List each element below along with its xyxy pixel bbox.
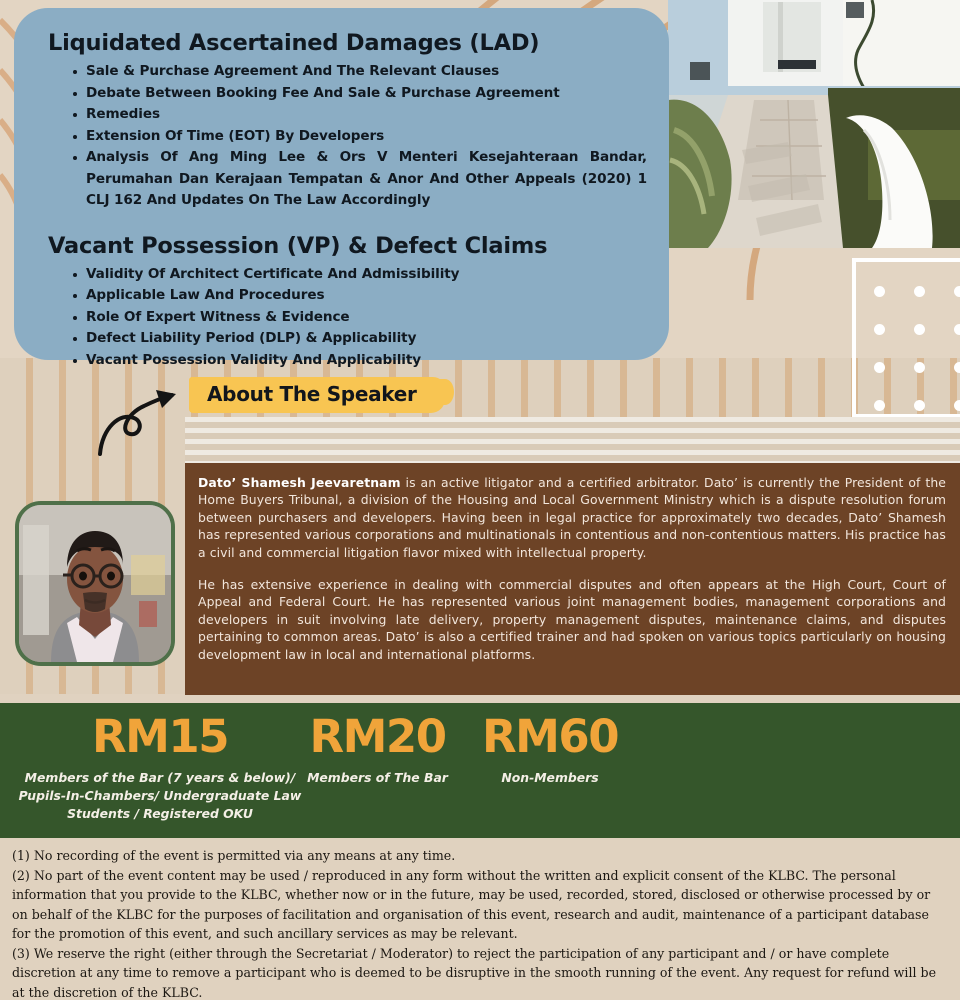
price-tier-2: RM20 Members of The Bar (270, 711, 485, 787)
price-amount: RM60 (460, 711, 640, 763)
topic-heading-lad-abbr: (LAD) (469, 30, 539, 56)
topic-heading-lad: Liquidated Ascertained Damages (LAD) (48, 30, 641, 56)
about-speaker-label: About The Speaker (189, 377, 445, 413)
speaker-bio-paragraph-1: Dato’ Shamesh Jeevaretnam is an active l… (198, 474, 946, 561)
speaker-portrait-illustration (19, 505, 171, 662)
dot-grid (856, 262, 960, 414)
curved-arrow-icon (96, 388, 186, 458)
topic-item: Applicable Law And Procedures (72, 285, 641, 307)
pricing-band: RM15 Members of the Bar (7 years & below… (0, 703, 960, 838)
topic-item: Debate Between Booking Fee And Sale & Pu… (72, 83, 641, 105)
topic-item: Analysis Of Ang Ming Lee & Ors V Menteri… (72, 147, 647, 212)
topic-heading-vp-tail: & Defect Claims (340, 233, 547, 259)
about-speaker-text: About The Speaker (207, 382, 417, 406)
topic-item: Extension Of Time (EOT) By Developers (72, 126, 641, 148)
topic-item: Remedies (72, 104, 641, 126)
price-tier-3: RM60 Non-Members (460, 711, 640, 787)
house-photo-illustration (668, 0, 960, 248)
topic-item: Sale & Purchase Agreement And The Releva… (72, 61, 641, 83)
price-amount: RM15 (10, 711, 310, 763)
topic-item: Role Of Expert Witness & Evidence (72, 307, 641, 329)
topics-card: Liquidated Ascertained Damages (LAD) Sal… (14, 8, 669, 360)
topic-item: Defect Liability Period (DLP) & Applicab… (72, 328, 641, 350)
about-speaker-highlight: About The Speaker (189, 377, 445, 413)
topic-heading-vp-main: Vacant Possession (48, 233, 287, 259)
event-poster: Liquidated Ascertained Damages (LAD) Sal… (0, 0, 960, 1000)
speaker-bio-block: Dato’ Shamesh Jeevaretnam is an active l… (185, 463, 960, 695)
topic-heading-vp: Vacant Possession (VP) & Defect Claims (48, 233, 641, 259)
price-description: Non-Members (460, 769, 640, 787)
topic-heading-vp-abbr: (VP) (287, 233, 341, 259)
dot-grid-frame (852, 258, 960, 418)
price-description: Members of the Bar (7 years & below)/ Pu… (10, 769, 310, 823)
terms-and-conditions: (1) No recording of the event is permitt… (0, 838, 960, 1000)
terms-item-2: (2) No part of the event content may be … (12, 866, 948, 944)
price-amount: RM20 (270, 711, 485, 763)
horizontal-stripe-decoration (185, 417, 960, 463)
topic-heading-lad-main: Liquidated Ascertained Damages (48, 30, 469, 56)
speaker-portrait (15, 501, 175, 666)
topic-list-lad: Sale & Purchase Agreement And The Releva… (72, 61, 641, 212)
terms-item-1: (1) No recording of the event is permitt… (12, 846, 948, 866)
topic-item: Validity Of Architect Certificate And Ad… (72, 264, 641, 286)
topic-item: Vacant Possession Validity And Applicabi… (72, 350, 641, 372)
speaker-name: Dato’ Shamesh Jeevaretnam (198, 475, 401, 490)
terms-item-3: (3) We reserve the right (either through… (12, 944, 948, 1000)
speaker-bio-paragraph-2: He has extensive experience in dealing w… (198, 576, 946, 663)
price-description: Members of The Bar (270, 769, 485, 787)
topic-list-vp: Validity Of Architect Certificate And Ad… (72, 264, 641, 372)
house-exterior-photo (668, 0, 960, 248)
price-tier-1: RM15 Members of the Bar (7 years & below… (10, 711, 310, 823)
